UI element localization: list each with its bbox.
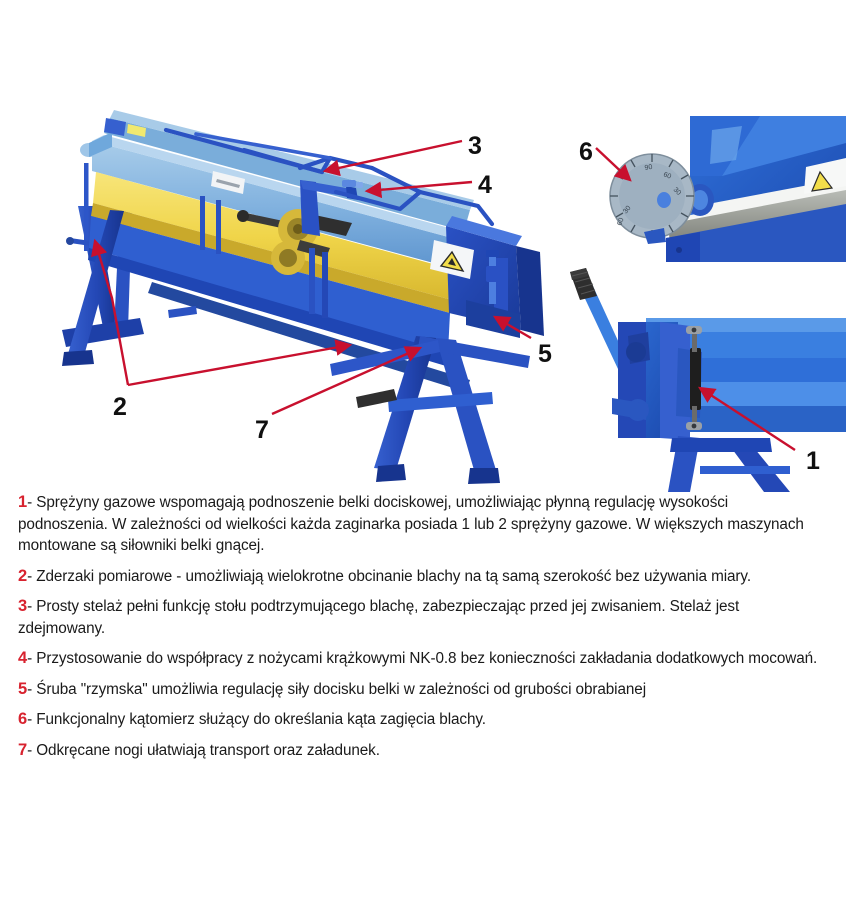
callout-number-6: 6 (579, 140, 593, 165)
legend-item-3: 3- Prosty stelaż pełni funkcję stołu pod… (0, 596, 846, 639)
callout-number-2: 2 (113, 395, 127, 420)
legend-item-7-number: 7 (18, 741, 27, 759)
callout-number-1: 1 (806, 449, 820, 474)
callout-number-7: 7 (255, 418, 269, 443)
legend-item-5-text: Śruba "rzymska" umożliwia regulację siły… (36, 681, 646, 698)
product-figure: 90 60 30 30 60 (0, 0, 846, 492)
legend-item-1-text: Sprężyny gazowe wspomagają podnoszenie b… (18, 494, 804, 554)
legend-item-7-text: Odkręcane nogi ułatwiają transport oraz … (36, 742, 380, 759)
leader-2b (128, 345, 350, 385)
main-machine-body (62, 110, 544, 484)
legend-item-1: 1- Sprężyny gazowe wspomagają podnoszeni… (0, 492, 846, 557)
legend-item-6-separator: - (27, 711, 32, 728)
legend-item-4-text: Przystosowanie do współpracy z nożycami … (36, 650, 817, 667)
legend-item-4-number: 4 (18, 649, 27, 667)
legend-item-6-number: 6 (18, 710, 27, 728)
leader-3 (325, 141, 462, 171)
legend-item-3-number: 3 (18, 597, 27, 615)
svg-text:90: 90 (644, 164, 653, 172)
callout-number-3: 3 (468, 134, 482, 159)
legend-item-2: 2- Zderzaki pomiarowe - umożliwiają wiel… (0, 566, 846, 588)
legend-item-3-separator: - (27, 598, 32, 615)
legend-item-6: 6- Funkcjonalny kątomierz służący do okr… (0, 709, 846, 731)
legend-item-4: 4- Przystosowanie do współpracy z nożyca… (0, 648, 846, 670)
legend-item-1-separator: - (27, 494, 32, 511)
legend-item-5-separator: - (27, 681, 32, 698)
legend-item-6-text: Funkcjonalny kątomierz służący do określ… (36, 711, 486, 728)
page-root: 90 60 30 30 60 (0, 0, 846, 900)
inset-angle-gauge: 90 60 30 30 60 (610, 116, 846, 265)
legend-item-3-text: Prosty stelaż pełni funkcję stołu podtrz… (18, 598, 739, 637)
legend-item-5-number: 5 (18, 680, 27, 698)
legend-item-2-text: Zderzaki pomiarowe - umożliwiają wielokr… (36, 568, 751, 585)
feature-legend-list: 1- Sprężyny gazowe wspomagają podnoszeni… (0, 492, 846, 900)
inset-gas-spring (570, 268, 846, 492)
legend-item-5: 5- Śruba "rzymska" umożliwia regulację s… (0, 679, 846, 701)
legend-item-1-number: 1 (18, 493, 27, 511)
foot-bar (168, 306, 197, 318)
callout-number-5: 5 (538, 342, 552, 367)
legend-item-7: 7- Odkręcane nogi ułatwiają transport or… (0, 740, 846, 762)
legend-item-4-separator: - (27, 650, 32, 667)
legend-item-2-number: 2 (18, 567, 27, 585)
callout-number-4: 4 (478, 173, 492, 198)
legend-item-7-separator: - (27, 742, 32, 759)
legend-item-2-separator: - (27, 568, 32, 585)
